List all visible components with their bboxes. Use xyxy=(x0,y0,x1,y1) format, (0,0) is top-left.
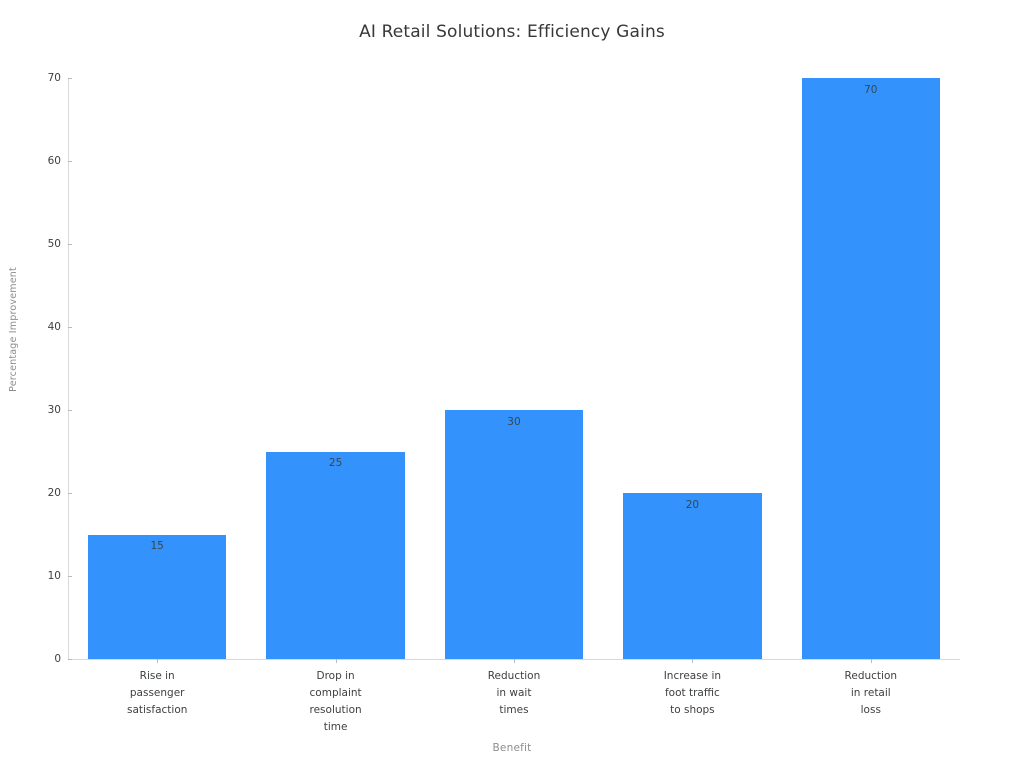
x-axis-category-line: Reduction xyxy=(782,668,960,685)
x-axis-category-line: Rise in xyxy=(68,668,246,685)
y-axis-tick-mark xyxy=(68,78,72,79)
chart-title: AI Retail Solutions: Efficiency Gains xyxy=(0,22,1024,42)
x-axis-tick-mark xyxy=(157,659,158,663)
x-axis-category-label: Increase infoot trafficto shops xyxy=(603,668,781,719)
x-axis-title: Benefit xyxy=(0,742,1024,754)
x-axis-tick-mark xyxy=(692,659,693,663)
y-axis-tick-label: 20 xyxy=(48,488,68,499)
bar[interactable] xyxy=(802,78,940,659)
bar-slot: 70 xyxy=(802,78,940,659)
x-axis-tick-mark xyxy=(871,659,872,663)
y-axis-tick-mark xyxy=(68,659,72,660)
x-axis-category-line: Drop in xyxy=(246,668,424,685)
bar-value-label: 30 xyxy=(445,417,583,428)
x-axis-category-line: time xyxy=(246,719,424,736)
x-axis-category-line: Increase in xyxy=(603,668,781,685)
x-axis-category-line: in wait xyxy=(425,685,603,702)
bar-value-label: 25 xyxy=(266,458,404,469)
y-axis-tick-mark xyxy=(68,493,72,494)
x-axis-category-line: resolution xyxy=(246,702,424,719)
bar-slot: 15 xyxy=(88,78,226,659)
bar-slot: 30 xyxy=(445,78,583,659)
x-axis-category-line: to shops xyxy=(603,702,781,719)
y-axis-tick-label: 60 xyxy=(48,156,68,167)
y-axis-tick-mark xyxy=(68,244,72,245)
y-axis-title-text: Percentage Improvement xyxy=(8,267,19,392)
x-axis-category-line: satisfaction xyxy=(68,702,246,719)
y-axis-tick-mark xyxy=(68,576,72,577)
y-axis-tick-label: 40 xyxy=(48,322,68,333)
x-axis-category-line: times xyxy=(425,702,603,719)
x-axis-category-label: Rise inpassengersatisfaction xyxy=(68,668,246,719)
x-axis-category-line: passenger xyxy=(68,685,246,702)
x-axis-category-line: in retail xyxy=(782,685,960,702)
bar[interactable] xyxy=(266,452,404,660)
y-axis-tick-label: 70 xyxy=(48,73,68,84)
bar-value-label: 20 xyxy=(623,500,761,511)
plot-area: 010203040506070 1525302070 xyxy=(68,78,960,659)
y-axis-tick-mark xyxy=(68,327,72,328)
y-axis-tick-label: 50 xyxy=(48,239,68,250)
x-axis-category-line: Reduction xyxy=(425,668,603,685)
x-axis-category-label: Reductionin retailloss xyxy=(782,668,960,719)
x-axis-category-label: Reductionin waittimes xyxy=(425,668,603,719)
bar-value-label: 70 xyxy=(802,85,940,96)
x-axis-tick-mark xyxy=(514,659,515,663)
bar-chart-figure: AI Retail Solutions: Efficiency Gains Pe… xyxy=(0,0,1024,768)
y-axis-tick-mark xyxy=(68,161,72,162)
bar-slot: 25 xyxy=(266,78,404,659)
x-axis-category-line: foot traffic xyxy=(603,685,781,702)
y-axis-tick-label: 10 xyxy=(48,571,68,582)
y-axis-tick-mark xyxy=(68,410,72,411)
y-axis-tick-label: 30 xyxy=(48,405,68,416)
y-axis-title: Percentage Improvement xyxy=(4,0,22,659)
bar-value-label: 15 xyxy=(88,541,226,552)
bar-slot: 20 xyxy=(623,78,761,659)
y-axis-tick-label: 0 xyxy=(54,654,68,665)
x-axis-category-line: complaint xyxy=(246,685,424,702)
x-axis-tick-mark xyxy=(336,659,337,663)
x-axis-category-line: loss xyxy=(782,702,960,719)
bar[interactable] xyxy=(623,493,761,659)
x-axis-category-label: Drop incomplaintresolutiontime xyxy=(246,668,424,736)
bar[interactable] xyxy=(445,410,583,659)
bar[interactable] xyxy=(88,535,226,660)
